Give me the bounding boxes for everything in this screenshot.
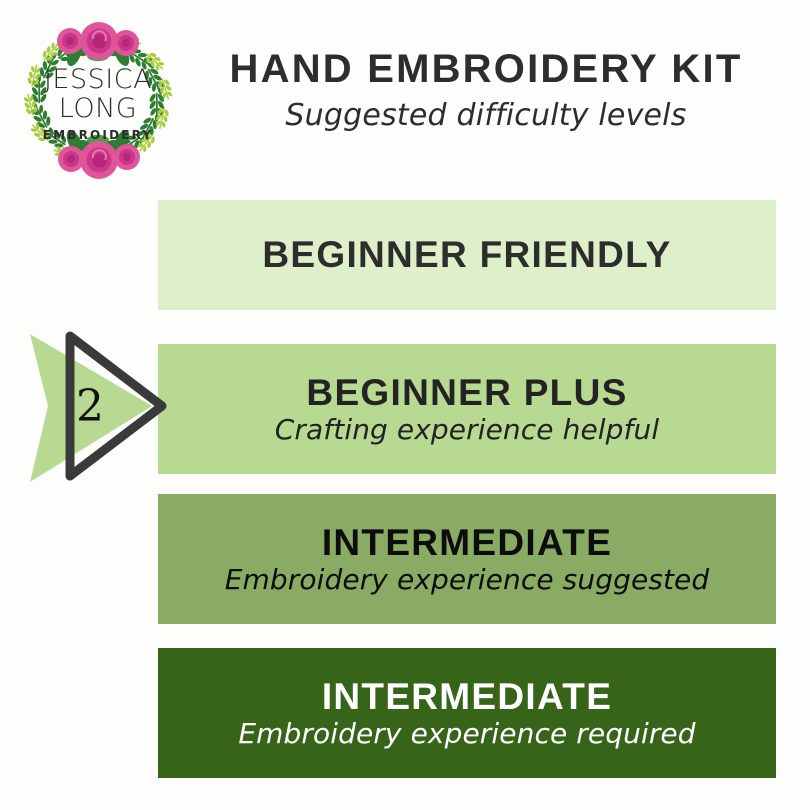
logo-line-2: LONG — [59, 93, 137, 124]
level-subtitle: Embroidery experience suggested — [225, 565, 710, 596]
difficulty-level-row[interactable]: INTERMEDIATE Embroidery experience requi… — [158, 648, 776, 778]
level-title: INTERMEDIATE — [322, 523, 612, 563]
page-subtitle: Suggested difficulty levels — [186, 98, 786, 133]
difficulty-level-row[interactable]: BEGINNER FRIENDLY — [158, 200, 776, 310]
header: HAND EMBROIDERY KIT Suggested difficulty… — [186, 48, 786, 133]
level-subtitle: Crafting experience helpful — [275, 415, 659, 446]
logo-line-3: EMBROIDERY — [43, 128, 154, 142]
difficulty-level-row[interactable]: INTERMEDIATE Embroidery experience sugge… — [158, 494, 776, 624]
selected-level-marker: 2 — [4, 328, 176, 490]
level-title: INTERMEDIATE — [322, 677, 612, 717]
marker-number: 2 — [76, 381, 104, 432]
page-title: HAND EMBROIDERY KIT — [186, 48, 786, 90]
level-title: BEGINNER PLUS — [306, 373, 627, 413]
difficulty-level-row[interactable]: BEGINNER PLUS Crafting experience helpfu… — [158, 344, 776, 474]
level-subtitle: Embroidery experience required — [238, 719, 695, 750]
logo-line-1: JESSICA — [44, 64, 152, 95]
wreath-flower-cluster-bottom — [58, 141, 140, 179]
level-title: BEGINNER FRIENDLY — [262, 235, 671, 275]
brand-logo: JESSICA LONG EMBROIDERY — [14, 12, 182, 184]
